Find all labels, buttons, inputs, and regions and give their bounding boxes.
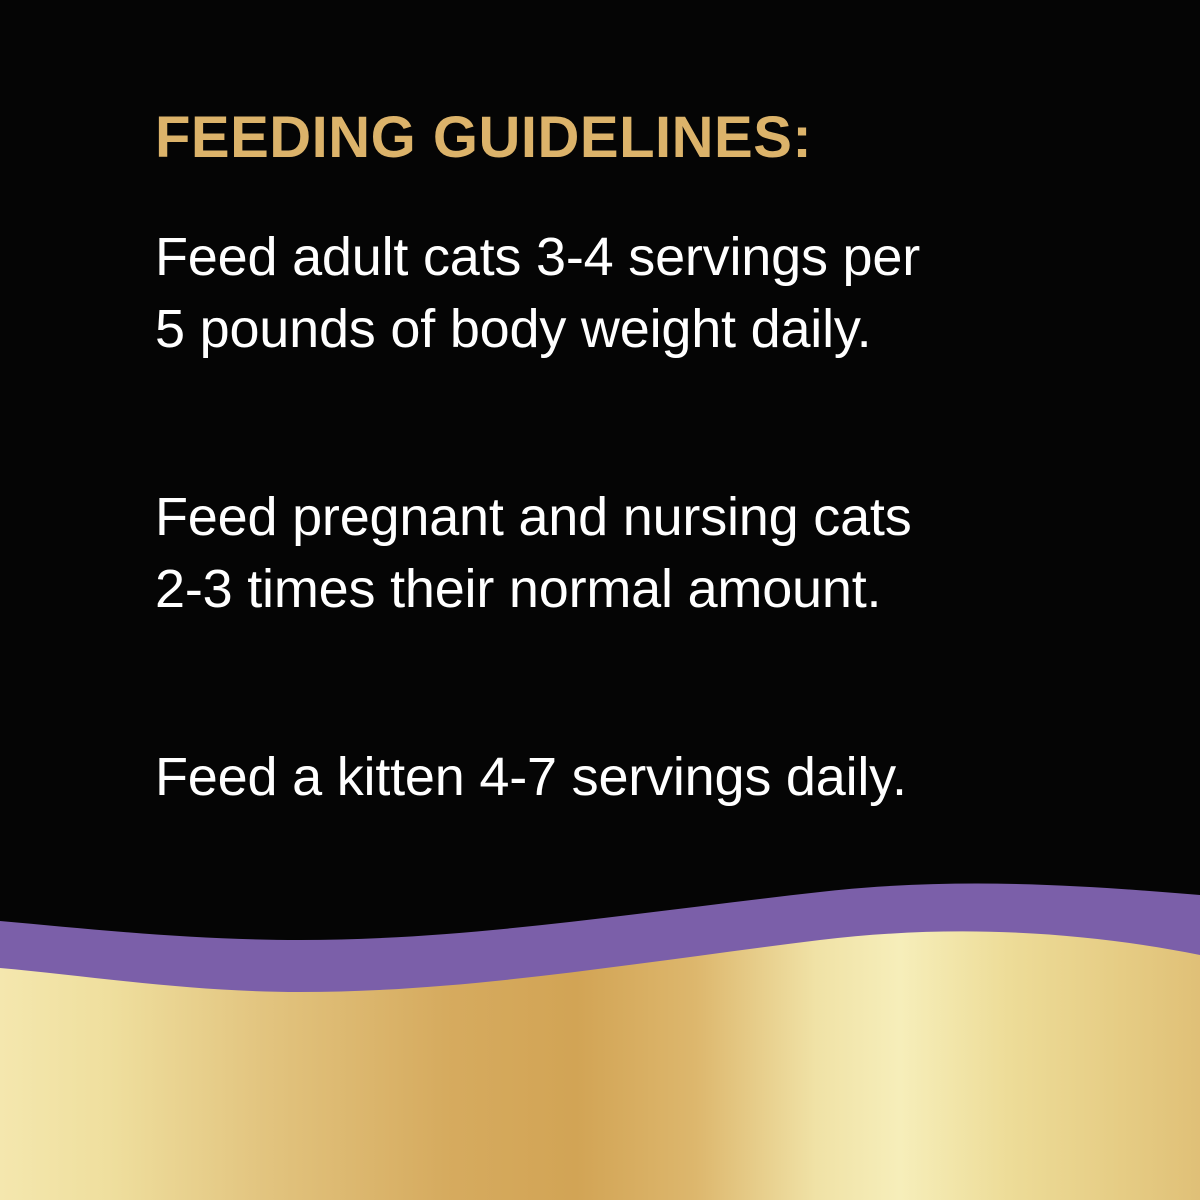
guideline-line: 5 pounds of body weight daily. [155,293,1035,365]
purple-wave-shape [0,884,1200,1200]
gold-wave-shape [0,931,1200,1200]
page-title: FEEDING GUIDELINES: [155,108,1035,169]
guideline-item-pregnant-nursing-cats: Feed pregnant and nursing cats 2-3 times… [155,481,1035,625]
feeding-guidelines-panel: FEEDING GUIDELINES: Feed adult cats 3-4 … [0,0,1200,1200]
guideline-line: 2-3 times their normal amount. [155,553,1035,625]
guideline-line: Feed pregnant and nursing cats [155,481,1035,553]
guideline-line: Feed a kitten 4-7 servings daily. [155,741,1035,813]
guideline-line: Feed adult cats 3-4 servings per [155,221,1035,293]
guideline-item-adult-cats: Feed adult cats 3-4 servings per 5 pound… [155,221,1035,365]
guidelines-content: FEEDING GUIDELINES: Feed adult cats 3-4 … [155,108,1035,813]
bottom-wave-decoration [0,860,1200,1200]
guideline-item-kitten: Feed a kitten 4-7 servings daily. [155,741,1035,813]
